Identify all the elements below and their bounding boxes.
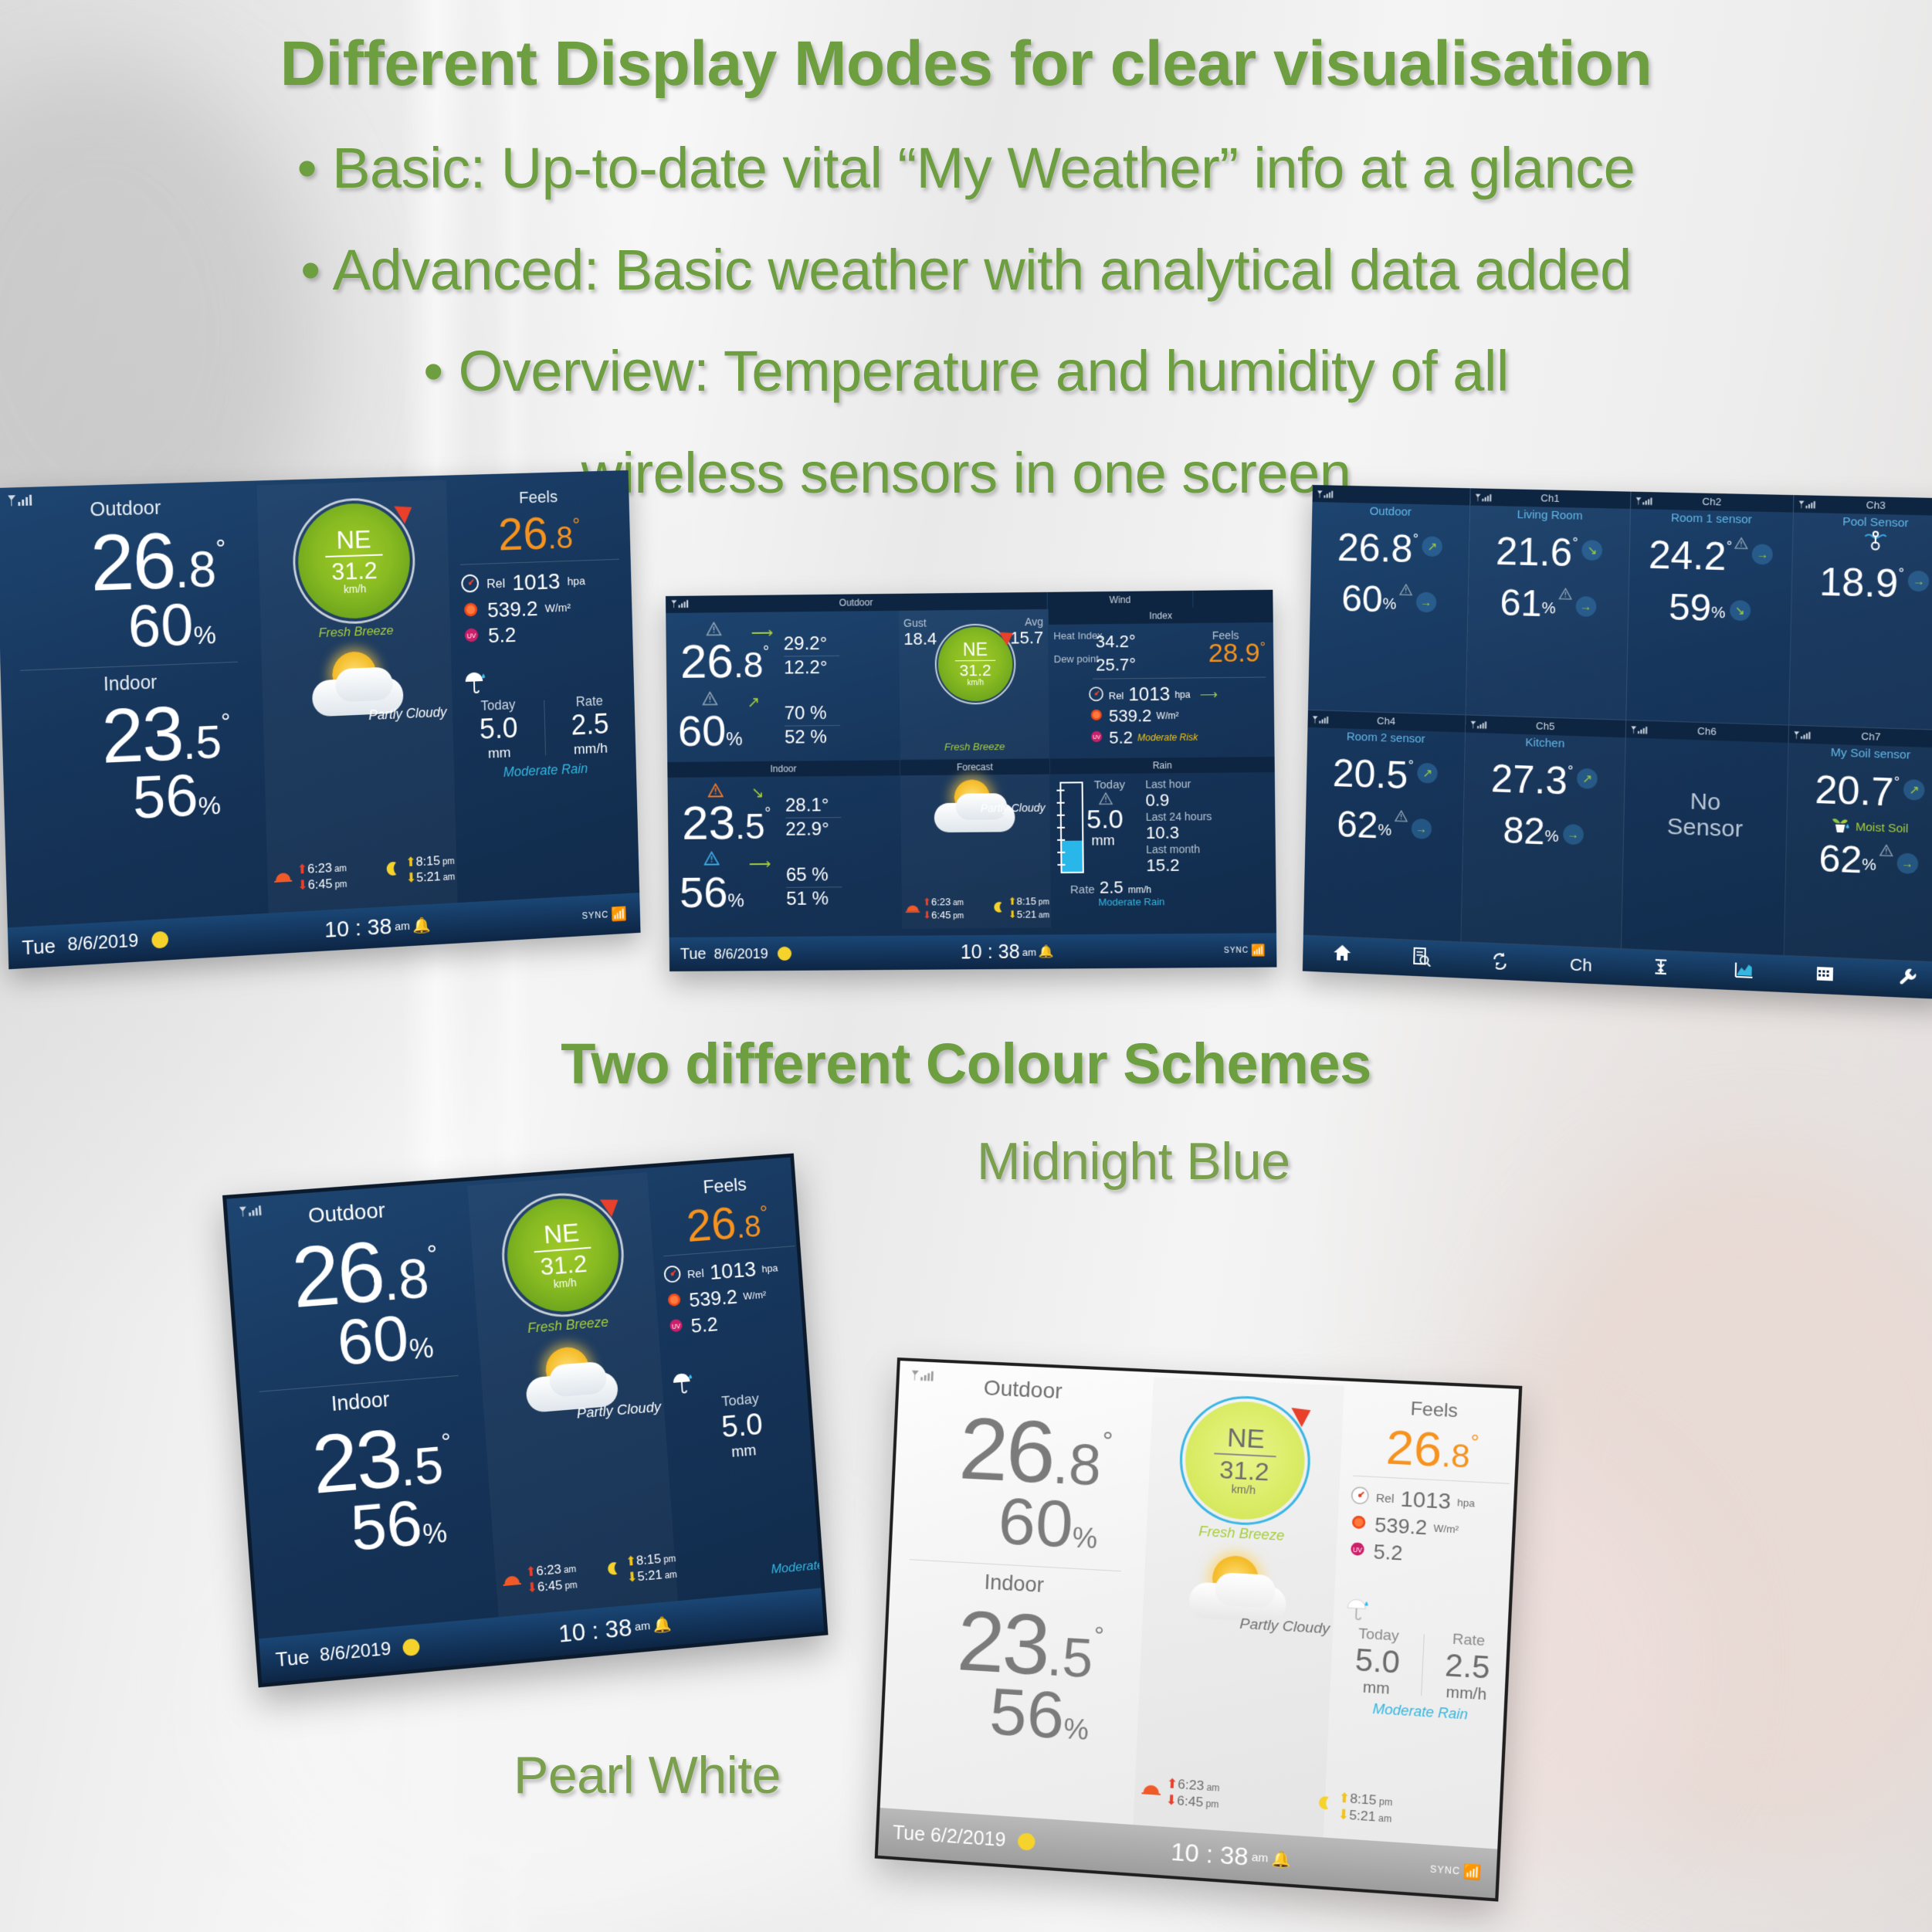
degree-icon: ° bbox=[426, 1239, 439, 1269]
signal-bars-icon bbox=[1635, 495, 1656, 513]
percent-label: % bbox=[1541, 600, 1556, 619]
pressure-unit: hpa bbox=[1174, 690, 1190, 700]
dew-point-value: 25.7° bbox=[1096, 655, 1136, 676]
nav-minmax[interactable] bbox=[1652, 956, 1673, 982]
pressure-value: 1013 bbox=[1400, 1486, 1452, 1514]
warning-triangle-icon bbox=[1558, 588, 1572, 604]
channel-header: Ch1 bbox=[1470, 488, 1630, 509]
sunrise-sunset-icon bbox=[1141, 1781, 1162, 1800]
sunrise-sunset-icon bbox=[501, 1571, 522, 1591]
moonrise-ampm: pm bbox=[663, 1553, 676, 1564]
uv-value: 5.2 bbox=[690, 1313, 719, 1338]
moon-icon bbox=[605, 1560, 622, 1581]
channel-humidity-value: 59 bbox=[1669, 586, 1712, 630]
arrow-right-icon: → bbox=[1752, 544, 1774, 564]
channel-humidity: 59%↘ bbox=[1629, 585, 1791, 632]
rain-description: Moderate bbox=[771, 1557, 825, 1578]
status-date: 8/6/2019 bbox=[319, 1639, 391, 1666]
status-time: 10 : 38 bbox=[1171, 1837, 1249, 1871]
channel-temp-value: 18.9 bbox=[1819, 559, 1899, 607]
wifi-sync-icon[interactable]: 📶 bbox=[1251, 943, 1266, 957]
rain-cell: Today 5.0 mm Last hour 0.9 Last 24 hours… bbox=[1050, 772, 1276, 927]
arrow-up-right-icon: ↗ bbox=[1422, 536, 1443, 557]
channel-humidity-value: 60 bbox=[1341, 578, 1384, 622]
signal-bars-icon bbox=[1469, 719, 1490, 737]
alarm-bell-icon[interactable]: 🔔 bbox=[1039, 944, 1054, 959]
signal-bars-icon bbox=[1798, 498, 1819, 516]
channel-humidity: 82%→ bbox=[1463, 808, 1624, 856]
bullet-basic: • Basic: Up-to-date vital “My Weather” i… bbox=[297, 135, 1635, 201]
channel-temperature: 18.9°→ bbox=[1791, 558, 1932, 608]
label-midnight-blue: Midnight Blue bbox=[977, 1131, 1290, 1191]
channel-humidity: 60%→ bbox=[1310, 577, 1468, 624]
pearl-white-device: Outdoor 26.8° 60% Indoor 23.5° 56% NE 31… bbox=[875, 1357, 1523, 1902]
solar-unit: W/m² bbox=[1433, 1522, 1459, 1535]
wind-speed: 31.2 bbox=[331, 558, 378, 584]
pressure-value: 1013 bbox=[512, 569, 561, 596]
channel-cell-outdoor[interactable]: Outdoor26.8°↗60%→ bbox=[1308, 485, 1471, 715]
warning-triangle-icon bbox=[1734, 537, 1748, 554]
moonset-ampm: am bbox=[442, 871, 455, 882]
degree-icon: ° bbox=[763, 644, 769, 661]
channel-cell-ch7[interactable]: Ch7My Soil sensor20.7°↗Moist Soil62%→ bbox=[1785, 726, 1932, 963]
wind-cell: Gust 18.4 Avg 15.7 NE 31.2 km/h Fresh Br… bbox=[899, 609, 1049, 759]
wind-gust-value: 18.4 bbox=[903, 629, 937, 649]
indoor-humidity: 56 bbox=[680, 867, 728, 916]
signal-bars-icon bbox=[1311, 713, 1331, 731]
pressure-prefix: Rel bbox=[686, 1266, 704, 1280]
outdoor-temp-dec: .8 bbox=[734, 645, 764, 685]
outdoor-humidity: 60 bbox=[335, 1301, 412, 1378]
status-bar: Tue 8/6/2019 10 : 38 am 🔔 SYNC 📶 bbox=[669, 933, 1277, 971]
arrow-up-right-icon: ↗ bbox=[1577, 768, 1598, 789]
svg-text:UV: UV bbox=[672, 1322, 681, 1330]
nav-home[interactable] bbox=[1332, 942, 1353, 968]
indoor-humidity: 56 bbox=[132, 761, 199, 831]
advanced-display-device: Outdoor Wind ⟶ 26.8° 29.2° 12.2° ↗ 60% 7… bbox=[666, 590, 1276, 971]
moonset-time: 5:21 bbox=[416, 869, 441, 884]
degree-icon: ° bbox=[1470, 1430, 1480, 1454]
wind-unit: km/h bbox=[553, 1276, 577, 1290]
channel-humidity: 62%→ bbox=[1786, 836, 1932, 886]
percent-label: % bbox=[1382, 595, 1396, 614]
wind-dial: NE 31.2 km/h bbox=[1183, 1399, 1307, 1523]
rain-rate-unit: mm/h bbox=[545, 739, 636, 760]
pressure-prefix: Rel bbox=[1376, 1491, 1395, 1506]
moonrise-time: 8:15 bbox=[636, 1551, 661, 1568]
status-time: 10 : 38 bbox=[961, 941, 1020, 964]
rain-today-unit: mm bbox=[453, 744, 545, 764]
channel-temperature: 24.2°→ bbox=[1629, 531, 1792, 581]
wind-dial: NE 31.2 km/h bbox=[937, 626, 1013, 701]
moonset-ampm: am bbox=[664, 1569, 677, 1581]
wind-dial: NE 31.2 km/h bbox=[503, 1195, 622, 1316]
outdoor-temp-min: 12.2° bbox=[784, 657, 839, 680]
channel-temp-value: 26.8 bbox=[1337, 525, 1413, 571]
degree-icon: ° bbox=[1568, 763, 1574, 779]
page-title: Different Display Modes for clear visual… bbox=[280, 28, 1652, 100]
sunset-ampm: pm bbox=[334, 879, 347, 890]
moonset-time: 5:21 bbox=[1017, 909, 1037, 920]
dew-point-label: Dew point bbox=[1054, 653, 1099, 664]
percent-label: % bbox=[1862, 856, 1876, 875]
moon-phase-icon bbox=[151, 931, 168, 949]
nav-history-search[interactable] bbox=[1411, 946, 1432, 971]
channel-name: Living Room bbox=[1470, 507, 1630, 524]
barometer-icon bbox=[1350, 1485, 1370, 1509]
sunrise-time: 6:23 bbox=[307, 860, 332, 876]
feels-value: 26 bbox=[497, 507, 548, 561]
sunset-time: 6:45 bbox=[308, 876, 333, 892]
percent-label: % bbox=[198, 791, 221, 821]
chart-icon bbox=[1733, 959, 1754, 985]
rain-rate-unit: mm/h bbox=[1128, 884, 1151, 895]
outdoor-cell: ⟶ 26.8° 29.2° 12.2° ↗ 60% 70 % 52 % bbox=[666, 611, 900, 761]
status-day: Tue bbox=[22, 934, 56, 959]
channel-name: My Soil sensor bbox=[1788, 744, 1932, 763]
wind-avg-label: Avg bbox=[1025, 615, 1043, 628]
sunrise-ampm: am bbox=[1206, 1781, 1220, 1793]
warning-triangle-icon bbox=[1399, 584, 1413, 600]
channel-header: Ch2 bbox=[1631, 492, 1793, 513]
channel-number: Ch2 bbox=[1702, 496, 1721, 508]
percent-label: % bbox=[422, 1517, 448, 1550]
feels-value: 28.9 bbox=[1208, 638, 1260, 668]
rain-rate-label: Rate bbox=[1070, 883, 1095, 897]
feels-value: 26 bbox=[685, 1197, 738, 1251]
channel-temp-value: 20.7 bbox=[1815, 767, 1894, 815]
nav-settings-wrench[interactable] bbox=[1896, 966, 1918, 992]
index-cell: Heat Index 34.2° Dew point 25.7° Feels 2… bbox=[1049, 622, 1274, 758]
sunrise-time: 6:23 bbox=[536, 1561, 561, 1578]
channel-cell-ch2[interactable]: Ch2Room 1 sensor24.2°→59%↘ bbox=[1626, 492, 1794, 726]
channel-humidity: 61%→ bbox=[1468, 581, 1629, 628]
moon-phase-icon bbox=[402, 1638, 420, 1656]
nav-refresh[interactable] bbox=[1490, 949, 1510, 974]
home-icon bbox=[1332, 942, 1353, 968]
sunset-ampm: pm bbox=[564, 1579, 578, 1591]
degree-icon: ° bbox=[1413, 531, 1419, 547]
sun-radiation-icon bbox=[1089, 707, 1104, 726]
moon-phase-icon bbox=[778, 947, 791, 961]
indoor-humidity: 56 bbox=[348, 1486, 425, 1564]
degree-icon: ° bbox=[1898, 565, 1904, 582]
channel-header: Ch3 bbox=[1794, 495, 1932, 516]
degree-icon: ° bbox=[1101, 1426, 1113, 1456]
signal-bars-icon bbox=[1630, 724, 1651, 741]
degree-icon: ° bbox=[215, 534, 226, 564]
panel-header-forecast: Forecast bbox=[900, 759, 1049, 776]
sunrise-time: 6:23 bbox=[931, 896, 951, 907]
rain-today-label: Today bbox=[1094, 778, 1126, 791]
sunset-ampm: pm bbox=[953, 912, 964, 920]
channel-temperature: 26.8°↗ bbox=[1311, 524, 1469, 573]
moonrise-time: 8:15 bbox=[1017, 896, 1037, 907]
minmax-icon bbox=[1652, 956, 1673, 982]
solar-unit: W/m² bbox=[743, 1289, 767, 1302]
percent-label: % bbox=[726, 729, 743, 750]
settings-wrench-icon bbox=[1896, 966, 1918, 992]
degree-icon: ° bbox=[764, 805, 771, 822]
sunrise-sunset-icon bbox=[905, 902, 920, 917]
forecast-condition: Partly Cloudy bbox=[368, 705, 447, 724]
moon-phase-icon bbox=[1018, 1832, 1035, 1851]
channel-cell-ch5[interactable]: Ch5Kitchen27.3°↗82%→ bbox=[1461, 715, 1626, 949]
forecast-condition: Partly Cloudy bbox=[981, 802, 1046, 815]
basic-display-device: Outdoor 26.8° 60% Indoor 23.5° 56% NE 31… bbox=[0, 470, 641, 969]
arrow-down-right-icon: ↘ bbox=[1581, 540, 1602, 561]
alarm-bell-icon[interactable]: 🔔 bbox=[652, 1614, 673, 1635]
channel-number: Ch3 bbox=[1866, 499, 1886, 511]
sun-radiation-icon bbox=[461, 599, 480, 623]
rain-last-hour-value: 0.9 bbox=[1145, 790, 1169, 810]
uv-index-icon: UV bbox=[666, 1316, 686, 1339]
plant-moisture-icon bbox=[1829, 815, 1851, 839]
indoor-hum-min: 51 % bbox=[786, 888, 842, 910]
pressure-unit: hpa bbox=[1457, 1496, 1475, 1509]
moon-icon bbox=[384, 859, 402, 882]
channel-cell-ch4[interactable]: Ch4Room 2 sensor20.5°↗62%→ bbox=[1303, 710, 1466, 942]
moonrise-ampm: pm bbox=[442, 856, 455, 866]
panel-header-wind: Wind bbox=[1048, 591, 1193, 609]
wind-description: Fresh Breeze bbox=[261, 621, 451, 643]
sync-label: SYNC bbox=[1430, 1863, 1461, 1876]
rain-last-24-label: Last 24 hours bbox=[1146, 810, 1212, 823]
rain-last-hour-label: Last hour bbox=[1145, 778, 1191, 791]
channel-cell-ch1[interactable]: Ch1Living Room21.6°↘61%→ bbox=[1466, 488, 1632, 720]
channel-number: Ch5 bbox=[1536, 720, 1555, 732]
signal-bars-icon bbox=[1316, 488, 1336, 506]
wind-speed: 31.2 bbox=[1219, 1457, 1270, 1485]
rain-rate-value: 2.5 bbox=[1100, 877, 1124, 897]
uv-index-icon: UV bbox=[1347, 1539, 1368, 1563]
rain-rate-value: 2.5 bbox=[1422, 1647, 1513, 1688]
signal-bars-icon bbox=[1474, 491, 1495, 509]
channel-name: Outdoor bbox=[1312, 503, 1469, 520]
refresh-icon bbox=[1490, 949, 1510, 974]
percent-label: % bbox=[1544, 828, 1559, 846]
channel-temperature: 27.3°↗ bbox=[1464, 755, 1625, 806]
wind-dial: NE 31.2 km/h bbox=[297, 502, 412, 620]
channel-humidity-value: 82 bbox=[1503, 809, 1545, 854]
degree-icon: ° bbox=[1893, 774, 1900, 791]
channel-cell-ch3[interactable]: Ch3Pool Sensor18.9°→ bbox=[1789, 495, 1932, 730]
status-day-date: Tue 6/2/2019 bbox=[892, 1822, 1006, 1852]
arrow-right-icon: → bbox=[1896, 852, 1918, 874]
feels-decimal: .8 bbox=[547, 520, 574, 555]
channel-temperature: 20.5°↗ bbox=[1307, 750, 1465, 800]
channel-number: Ch4 bbox=[1377, 715, 1395, 727]
svg-text:UV: UV bbox=[467, 632, 476, 639]
status-date: 8/6/2019 bbox=[713, 946, 768, 963]
solar-value: 539.2 bbox=[1374, 1513, 1428, 1540]
degree-icon: ° bbox=[1093, 1621, 1105, 1649]
bullet-overview-2: wireless sensors in one screen bbox=[581, 440, 1351, 506]
wind-speed: 31.2 bbox=[540, 1251, 588, 1279]
pressure-value: 1013 bbox=[1128, 684, 1170, 707]
forecast-cell: Partly Cloudy ⬆6:23 am ⬇6:45 pm ⬆8:15 pm… bbox=[900, 774, 1051, 929]
rain-today-value: 5.0 bbox=[1086, 805, 1124, 836]
channel-humidity-value: 62 bbox=[1818, 837, 1863, 882]
uv-value: 5.2 bbox=[1109, 727, 1133, 747]
sunrise-ampm: am bbox=[334, 863, 347, 874]
colour-schemes-title: Two different Colour Schemes bbox=[561, 1031, 1371, 1096]
nav-chart[interactable] bbox=[1733, 959, 1754, 985]
heat-index-value: 34.2° bbox=[1096, 632, 1136, 652]
panel-header-index-top bbox=[1193, 590, 1273, 608]
status-ampm: am bbox=[1251, 1850, 1268, 1865]
outdoor-humidity: 60 bbox=[127, 590, 195, 659]
channel-icon: Ch bbox=[1570, 954, 1592, 976]
uv-risk-label: Moderate Risk bbox=[1137, 733, 1198, 743]
solar-value: 539.2 bbox=[688, 1285, 738, 1312]
arrow-right-icon: ⟶ bbox=[749, 854, 771, 873]
sunset-time: 6:45 bbox=[1177, 1793, 1204, 1809]
alarm-bell-icon[interactable]: 🔔 bbox=[412, 915, 431, 935]
status-ampm: am bbox=[634, 1619, 650, 1634]
degree-icon: ° bbox=[221, 707, 231, 735]
bullet-overview: • Overview: Temperature and humidity of … bbox=[423, 338, 1509, 404]
arrow-right-icon: → bbox=[1411, 819, 1432, 839]
sync-label: SYNC bbox=[581, 910, 608, 921]
wind-direction: NE bbox=[963, 641, 988, 659]
uv-index-icon: UV bbox=[1089, 728, 1104, 747]
sunset-ampm: pm bbox=[1205, 1798, 1219, 1809]
indoor-humidity: 56 bbox=[988, 1674, 1066, 1753]
status-ampm: am bbox=[1022, 946, 1036, 958]
status-day: Tue bbox=[275, 1645, 310, 1672]
wifi-sync-icon[interactable]: 📶 bbox=[1463, 1863, 1483, 1881]
pressure-prefix: Rel bbox=[1109, 690, 1124, 701]
channel-temperature: 20.7°↗ bbox=[1788, 766, 1932, 818]
degree-icon: ° bbox=[1572, 535, 1578, 551]
pressure-prefix: Rel bbox=[486, 576, 505, 591]
sunrise-sunset-icon bbox=[273, 869, 293, 887]
wifi-sync-icon[interactable]: 📶 bbox=[611, 906, 627, 922]
solar-value: 539.2 bbox=[1109, 706, 1152, 727]
alarm-bell-icon[interactable]: 🔔 bbox=[1271, 1849, 1292, 1869]
moonrise-ampm: pm bbox=[1039, 898, 1049, 907]
percent-label: % bbox=[727, 890, 744, 911]
pool-thermometer-icon bbox=[1793, 529, 1932, 558]
sunset-time: 6:45 bbox=[931, 909, 951, 920]
barometer-icon bbox=[663, 1264, 682, 1287]
arrow-right-icon: → bbox=[1415, 592, 1436, 613]
degree-icon: ° bbox=[1260, 639, 1266, 655]
feels-decimal: .8 bbox=[735, 1210, 762, 1245]
sunset-time: 6:45 bbox=[537, 1578, 562, 1595]
indoor-cell: ↘ 23.5° 28.1° 22.9° ⟶ 56% 65 % 51 % bbox=[667, 775, 901, 930]
outdoor-hum-min: 52 % bbox=[785, 727, 840, 749]
no-sensor-label: NoSensor bbox=[1623, 737, 1788, 893]
indoor-temp-max: 28.1° bbox=[785, 795, 841, 817]
percent-label: % bbox=[1378, 822, 1391, 840]
degree-icon: ° bbox=[759, 1201, 768, 1224]
feels-decimal: .8 bbox=[1441, 1436, 1471, 1475]
label-pearl-white: Pearl White bbox=[514, 1745, 781, 1805]
channel-name: Pool Sensor bbox=[1793, 514, 1932, 531]
midnight-blue-device: Outdoor 26.8° 60% Indoor 23.5° 56% NE 31… bbox=[222, 1154, 829, 1688]
nav-calendar[interactable] bbox=[1815, 963, 1836, 989]
rain-last-month-value: 15.2 bbox=[1146, 856, 1179, 876]
channel-header bbox=[1313, 485, 1470, 505]
channel-cell-ch6[interactable]: Ch6NoSensor bbox=[1622, 720, 1789, 956]
sunrise-ampm: am bbox=[563, 1563, 576, 1574]
wind-direction: NE bbox=[543, 1219, 580, 1248]
moon-icon bbox=[991, 900, 1005, 917]
outdoor-temp-int: 26 bbox=[680, 635, 734, 689]
panel-header-indoor: Indoor bbox=[667, 760, 900, 778]
wind-unit: km/h bbox=[1231, 1483, 1256, 1496]
channel-number: Ch6 bbox=[1697, 725, 1717, 737]
channel-name: Room 1 sensor bbox=[1631, 510, 1793, 527]
pressure-unit: hpa bbox=[567, 575, 585, 588]
rain-today-value: 5.0 bbox=[452, 711, 544, 747]
arrow-right-icon: ⟶ bbox=[1200, 686, 1218, 702]
pressure-unit: hpa bbox=[761, 1262, 778, 1274]
rain-last-24-value: 10.3 bbox=[1146, 822, 1179, 842]
warning-triangle-icon bbox=[1394, 810, 1407, 826]
status-time: 10 : 38 bbox=[324, 914, 392, 944]
uv-index-icon: UV bbox=[462, 625, 481, 649]
feels-value: 26 bbox=[1385, 1420, 1443, 1477]
wind-unit: km/h bbox=[967, 679, 984, 687]
panel-header-rain: Rain bbox=[1050, 757, 1275, 774]
arrow-up-right-icon: ↗ bbox=[747, 693, 760, 712]
svg-text:UV: UV bbox=[1093, 734, 1100, 740]
wind-unit: km/h bbox=[344, 582, 366, 595]
arrow-right-icon: → bbox=[1563, 824, 1584, 845]
channel-temp-value: 24.2 bbox=[1648, 532, 1727, 579]
moonset-time: 5:21 bbox=[637, 1567, 663, 1583]
degree-icon: ° bbox=[440, 1427, 452, 1456]
status-ampm: am bbox=[395, 920, 410, 934]
bullet-advanced: • Advanced: Basic weather with analytica… bbox=[300, 237, 1632, 303]
channel-temp-value: 20.5 bbox=[1332, 751, 1408, 798]
history-search-icon bbox=[1411, 946, 1432, 971]
rain-rate-value: 2.5 bbox=[544, 707, 636, 744]
channel-humidity: 62%→ bbox=[1305, 802, 1463, 851]
arrow-up-right-icon: ↗ bbox=[1903, 779, 1925, 801]
status-day: Tue bbox=[680, 945, 707, 963]
sync-label: SYNC bbox=[1224, 946, 1249, 954]
rain-gauge-icon bbox=[1059, 781, 1083, 873]
channel-number: Ch7 bbox=[1861, 730, 1880, 743]
nav-channel[interactable]: Ch bbox=[1570, 954, 1592, 976]
channel-temperature: 21.6°↘ bbox=[1469, 528, 1629, 578]
rain-today-unit: mm bbox=[1091, 832, 1114, 849]
uv-value: 5.2 bbox=[488, 623, 517, 648]
arrow-right-icon: → bbox=[1575, 596, 1596, 617]
degree-icon: ° bbox=[572, 514, 580, 536]
pressure-value: 1013 bbox=[709, 1257, 757, 1285]
outdoor-humidity: 60 bbox=[677, 706, 726, 755]
wind-direction: NE bbox=[336, 527, 371, 554]
wind-speed: 31.2 bbox=[959, 663, 991, 679]
moonrise-time: 8:15 bbox=[415, 853, 440, 869]
percent-label: % bbox=[408, 1332, 435, 1365]
sunrise-ampm: am bbox=[953, 899, 964, 907]
percent-label: % bbox=[1072, 1521, 1098, 1554]
arrow-up-right-icon: ↗ bbox=[1417, 763, 1438, 784]
sunrise-time: 6:23 bbox=[1178, 1776, 1205, 1792]
signal-bars-icon bbox=[1793, 729, 1815, 747]
indoor-hum-max: 65 % bbox=[786, 864, 842, 886]
barometer-icon bbox=[1088, 686, 1103, 705]
solar-value: 539.2 bbox=[487, 597, 538, 622]
moonset-ampm: am bbox=[1039, 911, 1049, 920]
soil-status: Moist Soil bbox=[1856, 820, 1909, 836]
